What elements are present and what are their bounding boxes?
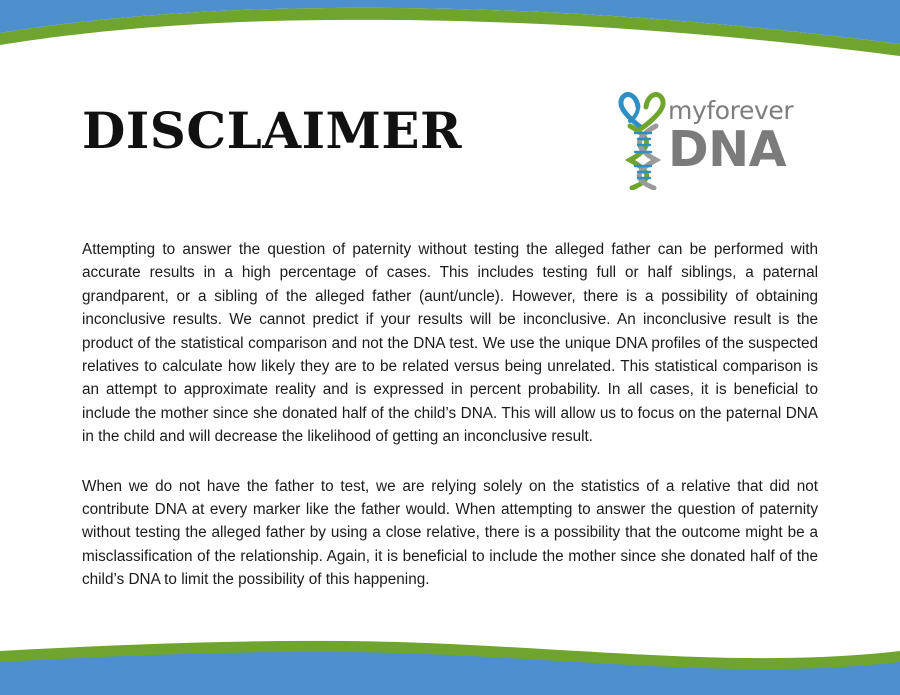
disclaimer-page: DISCLAIMER [0,0,900,695]
page-title: DISCLAIMER [82,106,462,156]
top-wave-border [0,0,900,60]
brand-logo: myforever DNA [612,90,812,190]
dna-heart-helix-icon [612,90,674,190]
brand-wordmark: myforever DNA [668,98,818,174]
brand-name-secondary: DNA [668,125,818,174]
document-header: DISCLAIMER [0,78,900,208]
bottom-wave-border [0,617,900,695]
body-paragraph: When we do not have the father to test, … [82,475,818,592]
brand-name-primary: myforever [668,98,818,123]
disclaimer-body: Attempting to answer the question of pat… [82,238,818,592]
body-paragraph: Attempting to answer the question of pat… [82,238,818,449]
